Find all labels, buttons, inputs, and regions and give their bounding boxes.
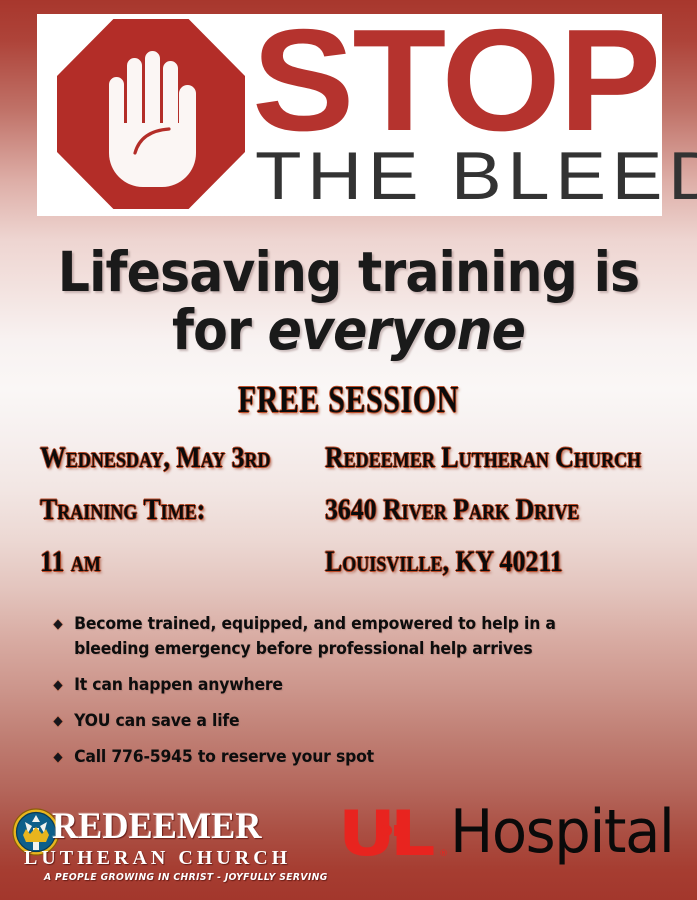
event-date: Wednesday, May 3rd — [40, 441, 271, 475]
list-item: Call 776-5945 to reserve your spot — [52, 745, 604, 770]
redeemer-lutheran-church-logo: REDEEMER LUTHERAN CHURCH A PEOPLE GROWIN… — [12, 806, 312, 892]
list-item: It can happen anywhere — [52, 673, 604, 698]
the-bleed-wordmark: THE BLEED — [255, 142, 697, 210]
details-row: Wednesday, May 3rd Redeemer Lutheran Chu… — [0, 441, 697, 491]
redeemer-wordmark: REDEEMER — [52, 806, 262, 848]
list-item: YOU can save a life — [52, 709, 604, 734]
event-details: Wednesday, May 3rd Redeemer Lutheran Chu… — [0, 441, 697, 601]
bullet-diamond-icon — [53, 717, 62, 727]
redeemer-tagline: A PEOPLE GROWING IN CHRIST - JOYFULLY SE… — [44, 872, 328, 884]
list-item-label: Become trained, equipped, and empowered … — [74, 614, 556, 659]
raised-hand-icon — [95, 41, 207, 193]
uofl-l-letter: L — [390, 803, 429, 865]
training-time-label: Training Time: — [40, 493, 205, 527]
stop-wordmark: STOP — [252, 8, 659, 153]
hospital-wordmark: Hospital — [450, 799, 674, 865]
list-item: Become trained, equipped, and empowered … — [52, 612, 604, 662]
details-row: Training Time: 3640 River Park Drive — [0, 493, 697, 543]
list-item-label: YOU can save a life — [74, 711, 239, 731]
headline-line-2-prefix: for — [172, 298, 268, 362]
bullet-diamond-icon — [53, 620, 62, 630]
uofl-hospital-logo: U OF L ® Hospital — [338, 802, 688, 874]
bullet-diamond-icon — [53, 681, 62, 691]
venue-city-state-zip: Louisville, KY 40211 — [325, 545, 563, 579]
registered-trademark-icon: ® — [439, 849, 448, 859]
headline-emphasis: everyone — [268, 298, 525, 362]
details-row: 11 am Louisville, KY 40211 — [0, 545, 697, 595]
stop-the-bleed-logo: STOP THE BLEED — [37, 14, 662, 216]
headline-line-2: for everyone — [28, 301, 669, 359]
venue-name: Redeemer Lutheran Church — [325, 441, 641, 475]
list-item-label: Call 776-5945 to reserve your spot — [74, 747, 374, 767]
redeemer-subtitle: LUTHERAN CHURCH — [24, 847, 291, 870]
benefits-list: Become trained, equipped, and empowered … — [52, 612, 652, 781]
training-time-value: 11 am — [40, 545, 101, 579]
stop-sign-octagon — [57, 19, 245, 209]
page-title: Lifesaving training is for everyone — [28, 243, 669, 359]
list-item-label: It can happen anywhere — [74, 675, 283, 695]
headline-line-1: Lifesaving training is — [28, 243, 669, 301]
uofl-monogram: U OF L ® — [338, 802, 450, 866]
stop-the-bleed-flyer: STOP THE BLEED Lifesaving training is fo… — [0, 0, 697, 900]
venue-street: 3640 River Park Drive — [325, 493, 579, 527]
free-session-label: FREE SESSION — [77, 380, 621, 420]
bullet-diamond-icon — [53, 753, 62, 763]
